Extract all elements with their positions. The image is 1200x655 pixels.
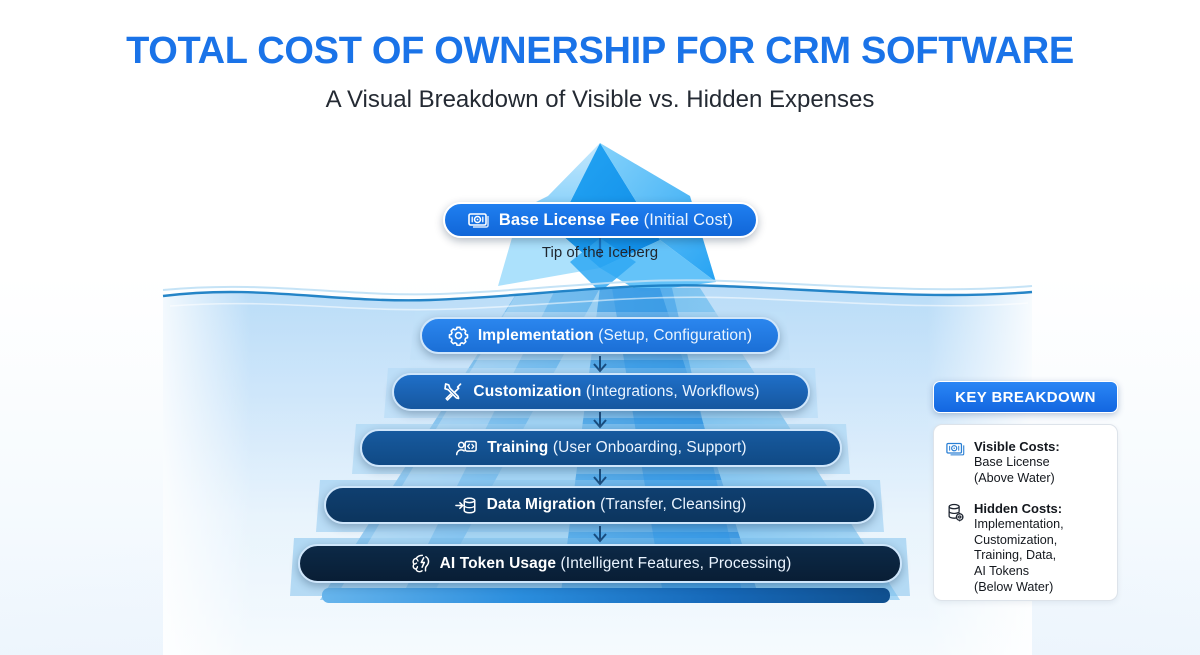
tip-of-iceberg-caption: Tip of the Iceberg (0, 244, 1200, 261)
cost-item-label: AI Token Usage (440, 555, 557, 572)
legend-item-text: Hidden Costs: Implementation, Customizat… (974, 501, 1064, 596)
cost-item-text: Training (User Onboarding, Support) (487, 439, 746, 457)
cost-item-detail: (Initial Cost) (644, 211, 733, 229)
cost-item-detail: (Intelligent Features, Processing) (561, 555, 792, 572)
gear-icon (448, 325, 469, 346)
banknote-icon (946, 439, 966, 456)
legend-line: Customization, (974, 533, 1064, 549)
banknote-icon (468, 212, 490, 228)
cost-item-training[interactable]: Training (User Onboarding, Support) (360, 429, 842, 467)
cost-item-label: Implementation (478, 327, 594, 344)
key-breakdown-panel: Visible Costs: Base License (Above Water… (933, 424, 1118, 601)
cost-item-text: Base License Fee (Initial Cost) (499, 211, 733, 230)
cost-item-customization[interactable]: Customization (Integrations, Workflows) (392, 373, 810, 411)
key-breakdown-badge: KEY BREAKDOWN (933, 381, 1118, 413)
cost-item-detail: (Transfer, Cleansing) (600, 496, 746, 513)
legend-line: (Above Water) (974, 471, 1060, 487)
cost-item-text: AI Token Usage (Intelligent Features, Pr… (440, 555, 792, 573)
legend-line: Base License (974, 455, 1060, 471)
cost-item-label: Base License Fee (499, 211, 639, 229)
training-icon (455, 438, 478, 459)
cost-item-label: Data Migration (487, 496, 596, 513)
legend-line: Implementation, (974, 517, 1064, 533)
cost-item-text: Data Migration (Transfer, Cleansing) (487, 496, 747, 514)
infographic-canvas: TOTAL COST OF OWNERSHIP FOR CRM SOFTWARE… (0, 0, 1200, 655)
cost-item-label: Training (487, 439, 548, 456)
cost-item-detail: (User Onboarding, Support) (553, 439, 747, 456)
legend-heading: Visible Costs: (974, 439, 1060, 455)
legend-item-hidden-costs: Hidden Costs: Implementation, Customizat… (946, 501, 1107, 596)
legend-item-text: Visible Costs: Base License (Above Water… (974, 439, 1060, 487)
iceberg-base-plinth (322, 588, 890, 603)
legend-line: Training, Data, (974, 548, 1064, 564)
legend-heading: Hidden Costs: (974, 501, 1064, 517)
cost-item-detail: (Integrations, Workflows) (586, 383, 760, 400)
database-arrow-icon (454, 495, 478, 516)
legend-line: (Below Water) (974, 580, 1064, 596)
cost-item-base-license[interactable]: Base License Fee (Initial Cost) (443, 202, 758, 238)
cost-item-text: Customization (Integrations, Workflows) (473, 383, 759, 401)
cost-item-implementation[interactable]: Implementation (Setup, Configuration) (420, 317, 780, 354)
tools-icon (442, 381, 464, 403)
cost-item-label: Customization (473, 383, 581, 400)
legend-item-visible-costs: Visible Costs: Base License (Above Water… (946, 439, 1107, 487)
brain-bolt-icon (409, 553, 431, 575)
cost-item-data-migration[interactable]: Data Migration (Transfer, Cleansing) (324, 486, 876, 524)
cost-item-text: Implementation (Setup, Configuration) (478, 327, 752, 345)
legend-line: AI Tokens (974, 564, 1064, 580)
cost-item-detail: (Setup, Configuration) (598, 327, 752, 344)
cost-item-ai-token-usage[interactable]: AI Token Usage (Intelligent Features, Pr… (298, 544, 902, 583)
database-gear-icon (946, 501, 966, 523)
